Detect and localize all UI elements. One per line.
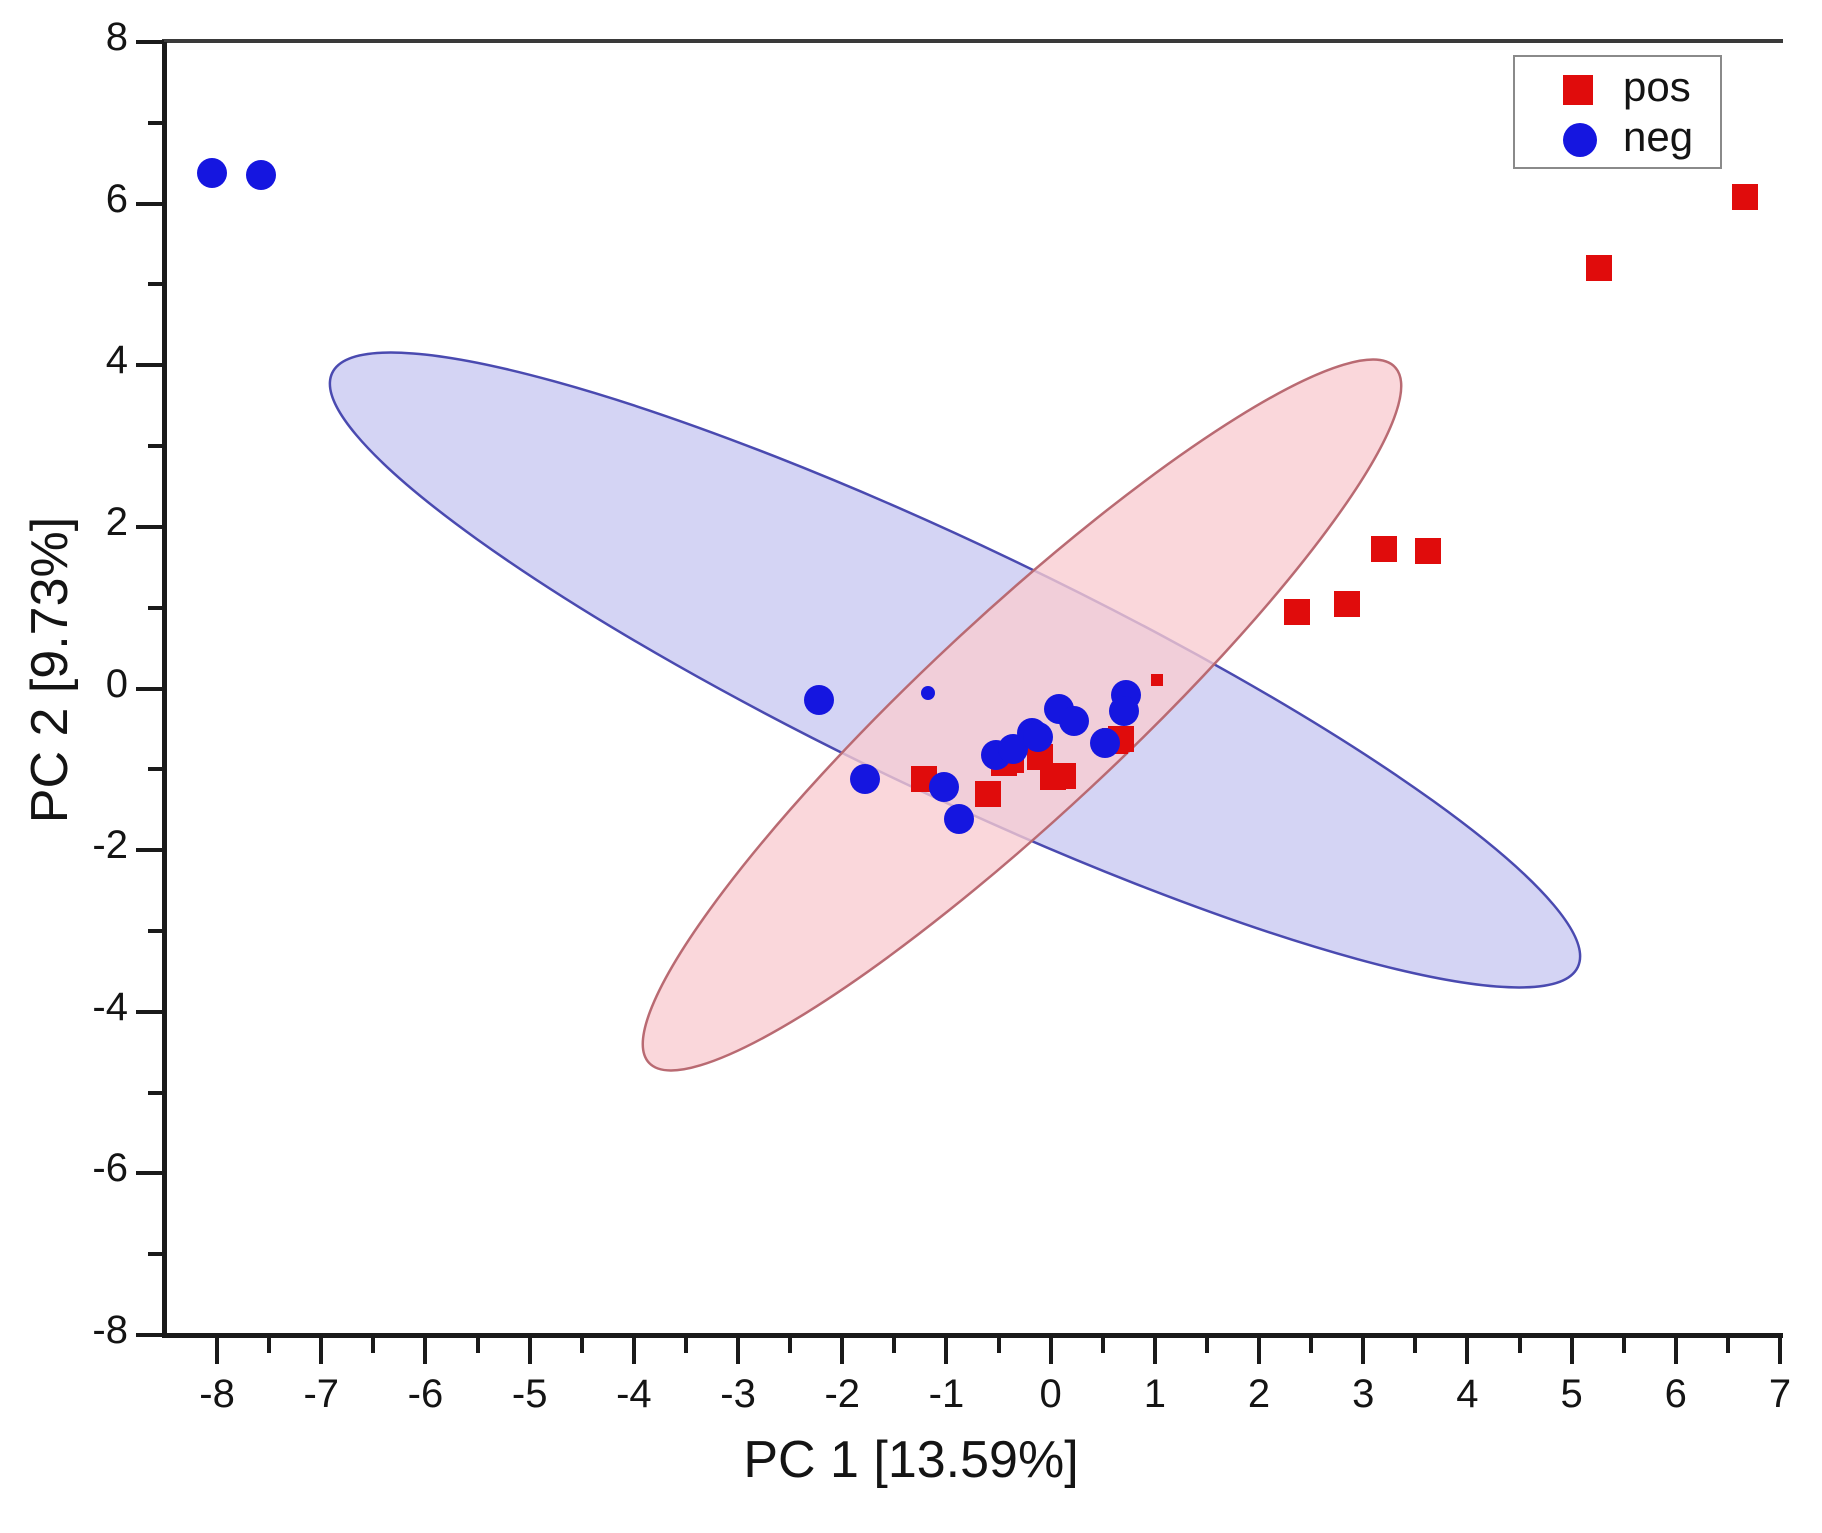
x-tick-minor [1726,1338,1730,1353]
x-tick-label: -6 [365,1372,485,1417]
y-tick-minor [148,1091,164,1095]
x-tick-major [1257,1338,1261,1364]
x-tick-major [423,1338,427,1364]
y-tick-major [136,1333,164,1337]
data-point-neg [921,686,935,700]
x-tick-major [944,1338,948,1364]
x-tick-minor [892,1338,896,1353]
legend-marker-square [1563,75,1593,105]
data-point-pos [1732,184,1758,210]
legend-label-neg: neg [1623,111,1693,163]
y-tick-minor [148,444,164,448]
x-tick-major [319,1338,323,1364]
y-tick-minor [148,767,164,771]
data-point-pos [975,781,1001,807]
x-tick-label: -7 [261,1372,381,1417]
x-tick-major [1674,1338,1678,1364]
y-tick-major [136,1171,164,1175]
x-tick-minor [1205,1338,1209,1353]
x-tick-label: -3 [678,1372,798,1417]
x-tick-minor [1101,1338,1105,1353]
x-tick-label: -2 [782,1372,902,1417]
x-tick-label: 3 [1303,1372,1423,1417]
pos-confidence-ellipse [581,294,1463,1136]
x-tick-minor [1622,1338,1626,1353]
data-point-neg [1023,722,1053,752]
data-point-neg [197,158,227,188]
y-tick-minor [148,282,164,286]
x-tick-major [632,1338,636,1364]
legend[interactable]: pos neg [1513,55,1722,169]
x-tick-minor [580,1338,584,1353]
neg-confidence-ellipse [279,261,1631,1079]
y-tick-major [136,363,164,367]
legend-item-pos[interactable]: pos [1515,61,1720,116]
x-tick-label: 5 [1512,1372,1632,1417]
x-tick-label: 1 [1095,1372,1215,1417]
x-tick-label: -4 [574,1372,694,1417]
x-tick-minor [997,1338,1001,1353]
x-tick-major [840,1338,844,1364]
y-tick-major [136,1010,164,1014]
x-tick-major [1465,1338,1469,1364]
data-point-pos [1151,674,1163,686]
y-tick-minor [148,929,164,933]
y-tick-major [136,525,164,529]
data-point-neg [1109,696,1139,726]
x-tick-major [736,1338,740,1364]
x-tick-label: -5 [470,1372,590,1417]
x-tick-minor [1518,1338,1522,1353]
y-tick-major [136,848,164,852]
x-tick-label: 0 [991,1372,1111,1417]
data-point-neg [944,804,974,834]
plot-top-border [162,39,1783,43]
y-tick-label: -8 [0,1308,128,1353]
data-point-pos [1371,536,1397,562]
y-tick-major [136,40,164,44]
legend-label-pos: pos [1623,61,1691,113]
x-tick-minor [267,1338,271,1353]
data-point-pos [1284,599,1310,625]
x-tick-minor [371,1338,375,1353]
y-tick-label: 6 [0,177,128,222]
x-axis-line [162,1333,1783,1338]
x-tick-major [215,1338,219,1364]
data-point-neg [804,685,834,715]
data-point-pos [1334,591,1360,617]
x-tick-label: 4 [1407,1372,1527,1417]
x-tick-major [1361,1338,1365,1364]
x-tick-label: 6 [1616,1372,1736,1417]
x-tick-label: 7 [1720,1372,1822,1417]
x-tick-major [1153,1338,1157,1364]
x-tick-label: 2 [1199,1372,1319,1417]
y-tick-major [136,687,164,691]
x-tick-minor [1309,1338,1313,1353]
y-axis-title: PC 2 [9.73%] [20,290,80,1050]
x-tick-minor [476,1338,480,1353]
x-tick-label: -1 [886,1372,1006,1417]
data-point-neg [929,772,959,802]
x-tick-label: -8 [157,1372,277,1417]
data-point-neg [246,160,276,190]
pca-score-plot: -8-7-6-5-4-3-2-101234567 86420-2-4-6-8 P… [0,0,1822,1533]
data-point-pos [1415,538,1441,564]
x-tick-major [528,1338,532,1364]
y-tick-minor [148,606,164,610]
y-tick-label: -6 [0,1146,128,1191]
y-tick-major [136,202,164,206]
x-tick-minor [788,1338,792,1353]
y-tick-minor [148,121,164,125]
y-tick-label: 8 [0,15,128,60]
x-tick-major [1049,1338,1053,1364]
legend-marker-circle [1563,123,1597,157]
x-tick-major [1778,1338,1782,1364]
x-tick-major [1570,1338,1574,1364]
data-point-pos [1586,255,1612,281]
data-point-neg [1059,706,1089,736]
data-point-neg [850,764,880,794]
y-tick-minor [148,1252,164,1256]
x-axis-title: PC 1 [13.59%] [0,1430,1822,1490]
legend-item-neg[interactable]: neg [1515,111,1720,166]
x-tick-minor [1413,1338,1417,1353]
x-tick-minor [684,1338,688,1353]
